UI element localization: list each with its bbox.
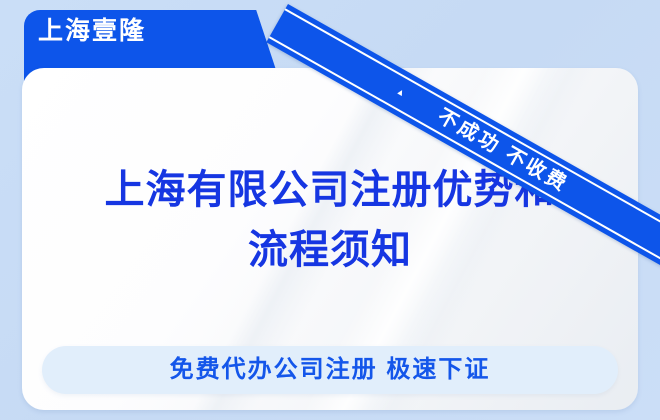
title-line-2: 流程须知 <box>22 220 638 280</box>
content-card: 上海有限公司注册优势和 流程须知 免费代办公司注册 极速下证 <box>22 68 638 410</box>
promo-poster: 上海壹隆 上海有限公司注册优势和 流程须知 免费代办公司注册 极速下证 ▲ 不成… <box>0 0 660 420</box>
bottom-cta-bar[interactable]: 免费代办公司注册 极速下证 <box>42 346 618 394</box>
triangle-up-icon: ▲ <box>395 86 407 98</box>
bottom-cta-label: 免费代办公司注册 极速下证 <box>170 356 491 384</box>
brand-tab-label: 上海壹隆 <box>38 16 146 46</box>
